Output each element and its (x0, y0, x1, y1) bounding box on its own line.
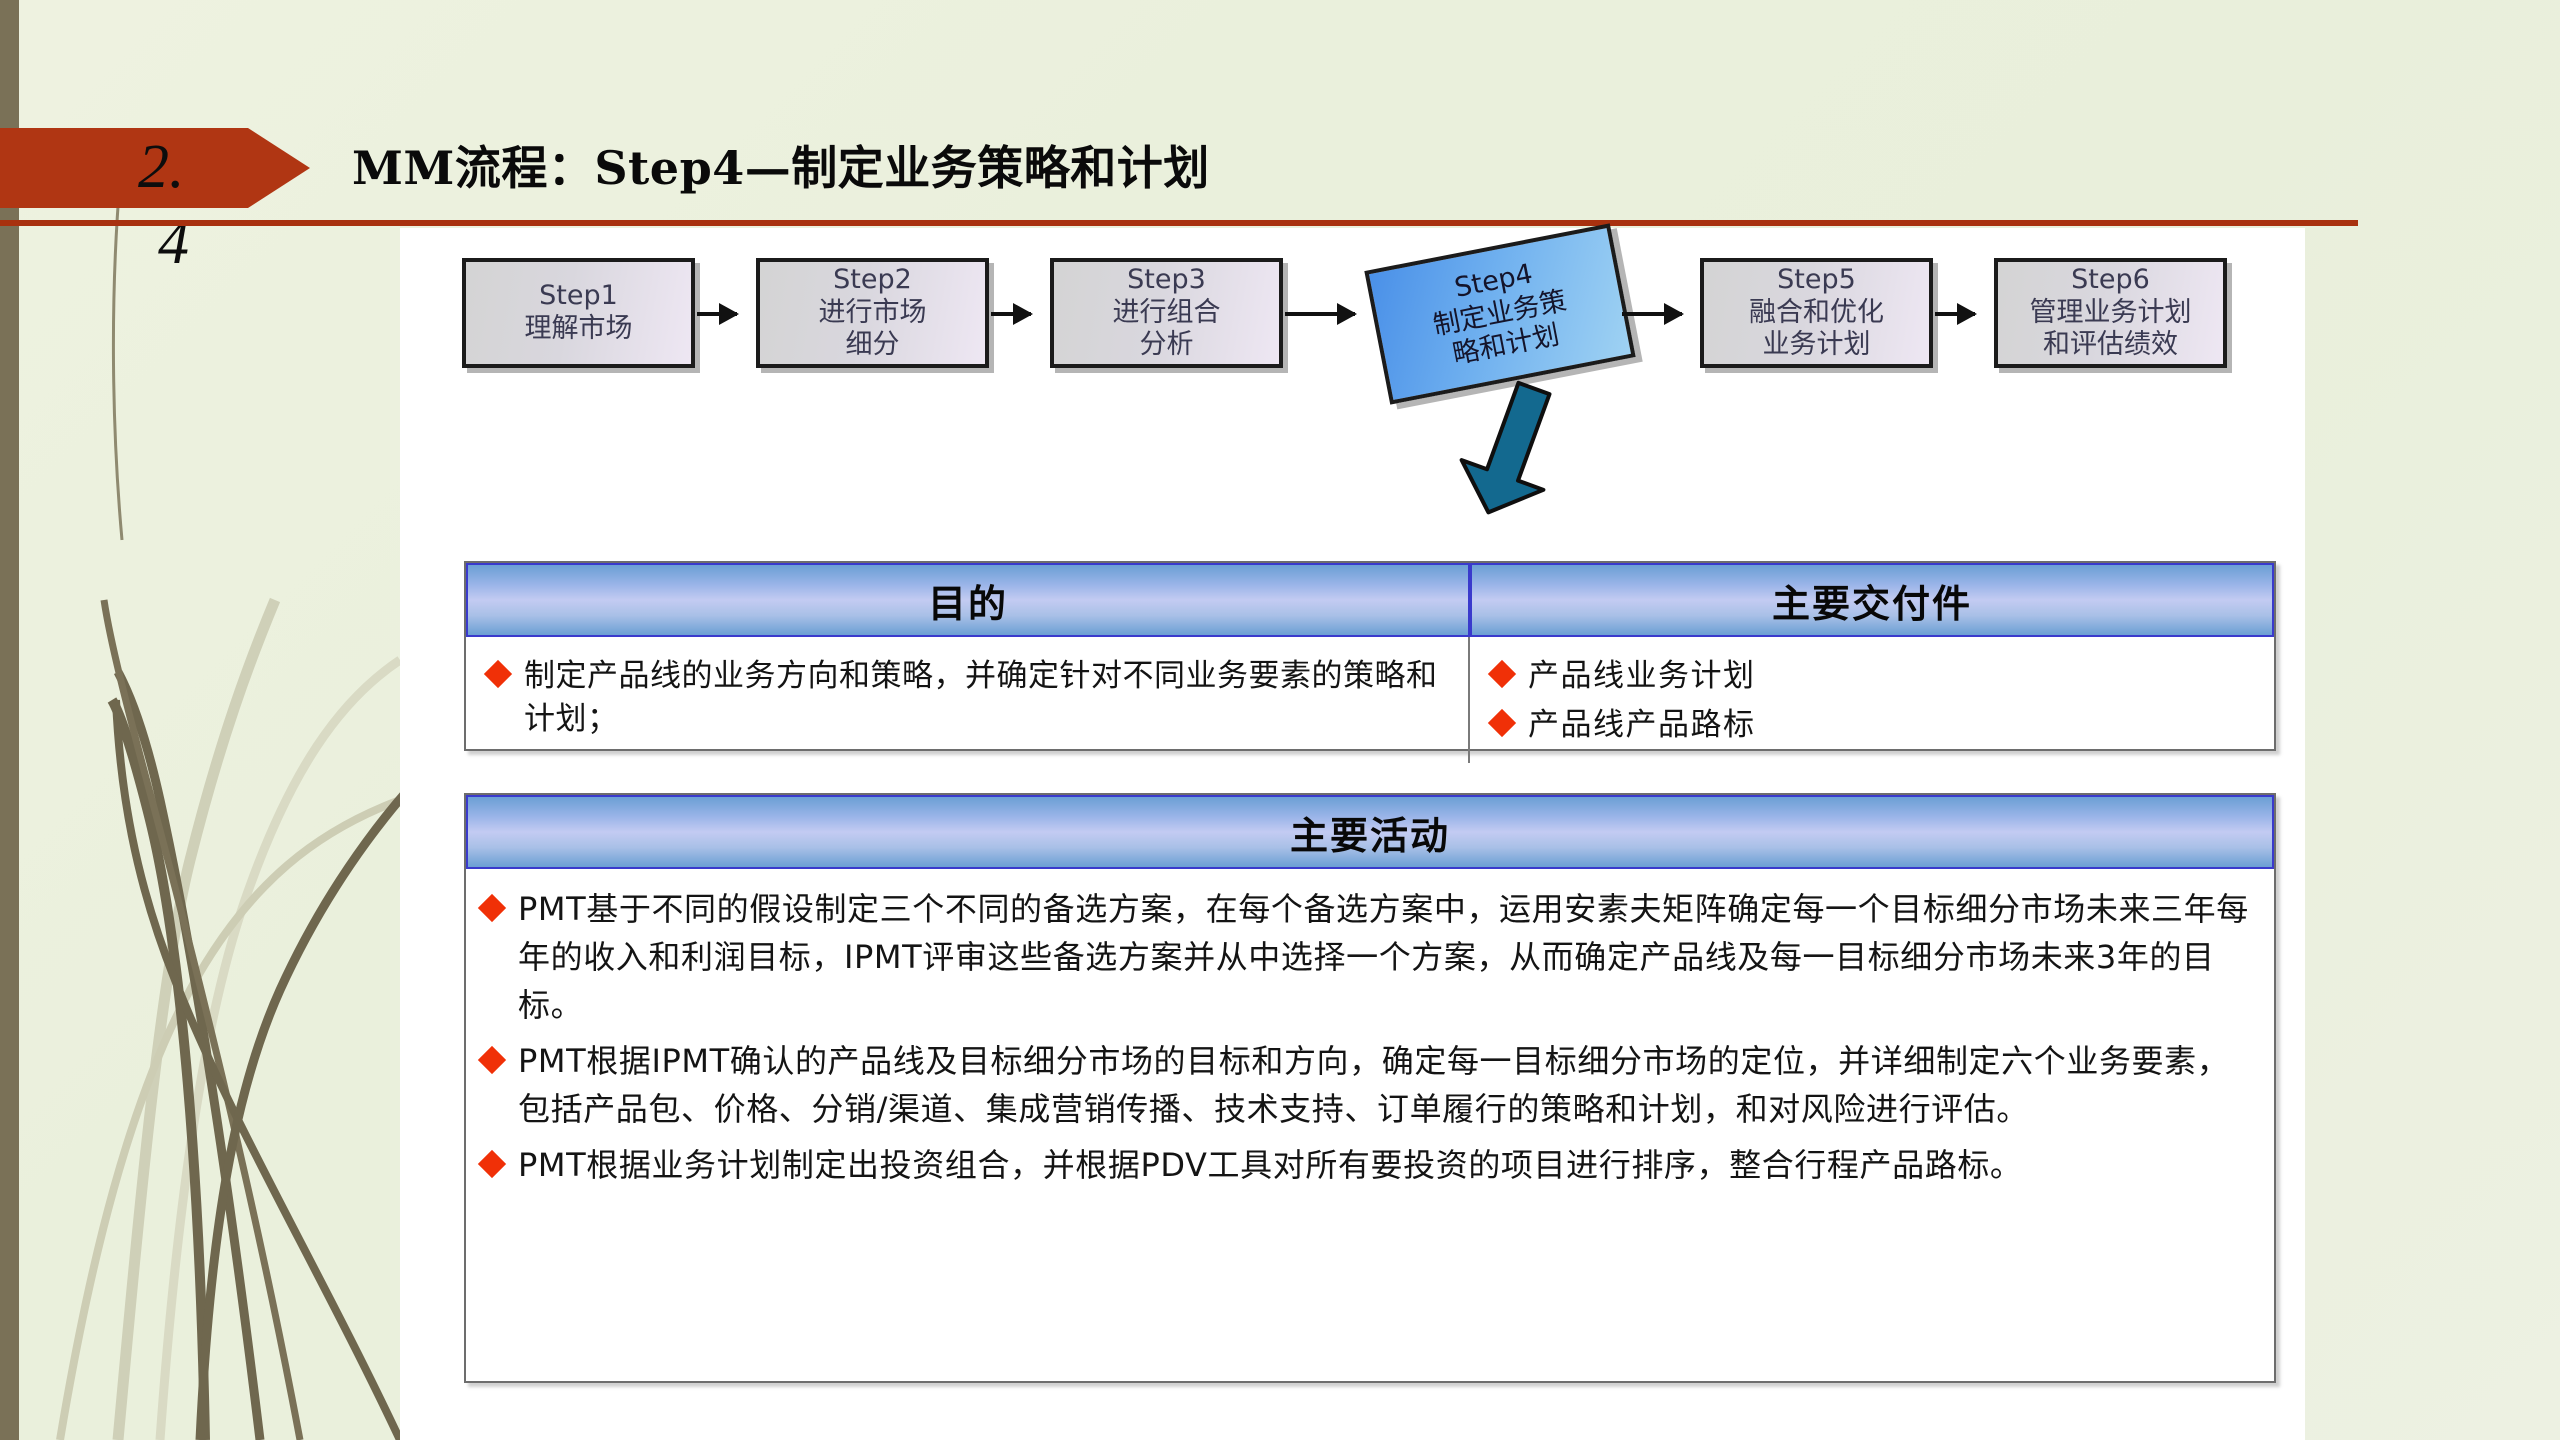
flow-step-line: 进行组合 (1113, 297, 1221, 330)
content-panel: Step1 理解市场 Step2 进行市场 细分 Step3 进行组合 分析 S… (400, 228, 2305, 1440)
flow-arrow-2 (991, 312, 1031, 316)
title-underline-rule (0, 220, 2358, 226)
table-header-purpose: 目的 (466, 563, 1470, 637)
flow-step-line: 业务计划 (1763, 329, 1871, 362)
flow-step-label: Step5 (1777, 264, 1856, 297)
flow-arrow-4 (1622, 312, 1682, 316)
slide-number-minor: 4 (158, 208, 189, 279)
list-item: 产品线业务计划 (1486, 655, 2258, 698)
flow-step-label: Step3 (1127, 264, 1206, 297)
diamond-bullet-icon (478, 1150, 506, 1178)
decorative-grass-illustration (0, 0, 460, 1440)
flow-step-line: 融合和优化 (1749, 297, 1884, 330)
list-item: PMT基于不同的假设制定三个不同的备选方案，在每个备选方案中，运用安素夫矩阵确定… (476, 885, 2254, 1029)
table-header-row: 主要活动 (466, 795, 2274, 869)
flow-step-line: 和评估绩效 (2043, 329, 2178, 362)
table-header-deliverables: 主要交付件 (1470, 563, 2274, 637)
table-cell-deliverables: 产品线业务计划 产品线产品路标 (1470, 637, 2274, 763)
list-item-text: 产品线产品路标 (1528, 704, 1756, 747)
list-item: PMT根据IPMT确认的产品线及目标细分市场的目标和方向，确定每一目标细分市场的… (476, 1037, 2254, 1133)
purpose-deliverables-table: 目的 主要交付件 制定产品线的业务方向和策略，并确定针对不同业务要素的策略和计划… (464, 561, 2276, 751)
mm-process-flow-diagram: Step1 理解市场 Step2 进行市场 细分 Step3 进行组合 分析 S… (400, 228, 2305, 558)
flow-step-step4-highlighted[interactable]: Step4 制定业务策 略和计划 (1364, 223, 1635, 404)
flow-step-line: 管理业务计划 (2030, 297, 2192, 330)
flow-step-step5[interactable]: Step5 融合和优化 业务计划 (1700, 258, 1933, 368)
table-row: 制定产品线的业务方向和策略，并确定针对不同业务要素的策略和计划； 产品线业务计划… (466, 637, 2274, 763)
flow-step-label: Step1 (539, 280, 618, 313)
flow-step-step1[interactable]: Step1 理解市场 (462, 258, 695, 368)
list-item-text: PMT根据业务计划制定出投资组合，并根据PDV工具对所有要投资的项目进行排序，整… (518, 1141, 2023, 1189)
flow-step-label: Step6 (2071, 264, 2150, 297)
flow-arrow-5 (1935, 312, 1975, 316)
table-cell-purpose: 制定产品线的业务方向和策略，并确定针对不同业务要素的策略和计划； (466, 637, 1470, 763)
table-header-activities: 主要活动 (466, 795, 2274, 869)
flow-arrow-3 (1285, 312, 1355, 316)
list-item: 制定产品线的业务方向和策略，并确定针对不同业务要素的策略和计划； (482, 655, 1452, 741)
diamond-bullet-icon (478, 1046, 506, 1074)
slide-root: 2. 4 MM流程：Step4—制定业务策略和计划 Step1 理解市场 Ste… (0, 0, 2560, 1440)
diamond-bullet-icon (1488, 709, 1516, 737)
down-arrow-icon (1450, 380, 1570, 520)
flow-step-step6[interactable]: Step6 管理业务计划 和评估绩效 (1994, 258, 2227, 368)
list-item: 产品线产品路标 (1486, 704, 2258, 747)
list-item-text: 产品线业务计划 (1528, 655, 1756, 698)
flow-step-line: 理解市场 (525, 313, 633, 346)
flow-step-line: 细分 (846, 329, 900, 362)
main-activities-table: 主要活动 PMT基于不同的假设制定三个不同的备选方案，在每个备选方案中，运用安素… (464, 793, 2276, 1383)
list-item-text: 制定产品线的业务方向和策略，并确定针对不同业务要素的策略和计划； (524, 655, 1452, 741)
flow-step-line: 进行市场 (819, 297, 927, 330)
flow-step-step3[interactable]: Step3 进行组合 分析 (1050, 258, 1283, 368)
diamond-bullet-icon (484, 660, 512, 688)
diamond-bullet-icon (478, 894, 506, 922)
left-accent-band (0, 0, 19, 1440)
list-item-text: PMT基于不同的假设制定三个不同的备选方案，在每个备选方案中，运用安素夫矩阵确定… (518, 885, 2254, 1029)
list-item: PMT根据业务计划制定出投资组合，并根据PDV工具对所有要投资的项目进行排序，整… (476, 1141, 2254, 1189)
table-header-row: 目的 主要交付件 (466, 563, 2274, 637)
slide-number-major: 2. (138, 128, 258, 208)
diamond-bullet-icon (1488, 660, 1516, 688)
page-title: MM流程：Step4—制定业务策略和计划 (352, 132, 1210, 198)
list-item-text: PMT根据IPMT确认的产品线及目标细分市场的目标和方向，确定每一目标细分市场的… (518, 1037, 2254, 1133)
flow-arrow-1 (697, 312, 737, 316)
flow-step-line: 分析 (1140, 329, 1194, 362)
activities-list: PMT基于不同的假设制定三个不同的备选方案，在每个备选方案中，运用安素夫矩阵确定… (466, 869, 2274, 1207)
flow-step-label: Step2 (833, 264, 912, 297)
flow-step-step2[interactable]: Step2 进行市场 细分 (756, 258, 989, 368)
